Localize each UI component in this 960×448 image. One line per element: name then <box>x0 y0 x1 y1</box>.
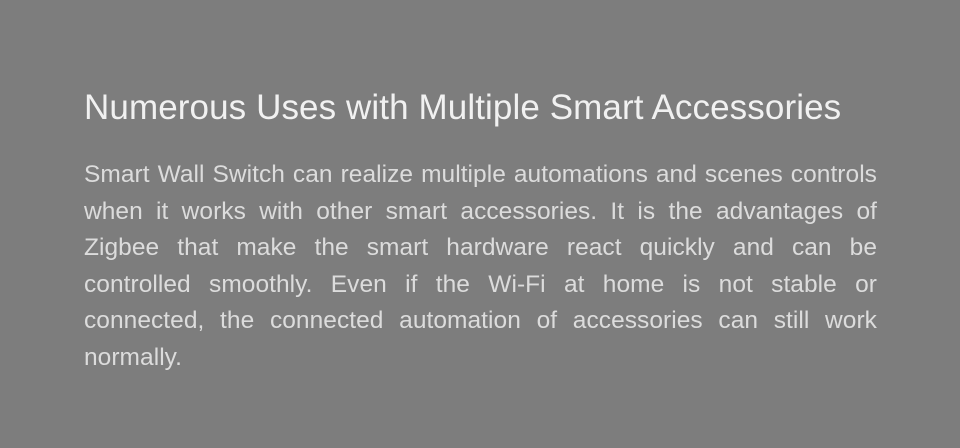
text-content-block: Numerous Uses with Multiple Smart Access… <box>84 86 877 413</box>
page-title: Numerous Uses with Multiple Smart Access… <box>84 86 877 130</box>
promo-panel: Numerous Uses with Multiple Smart Access… <box>0 0 960 448</box>
description-paragraph: Smart Wall Switch can realize multiple a… <box>84 130 877 413</box>
